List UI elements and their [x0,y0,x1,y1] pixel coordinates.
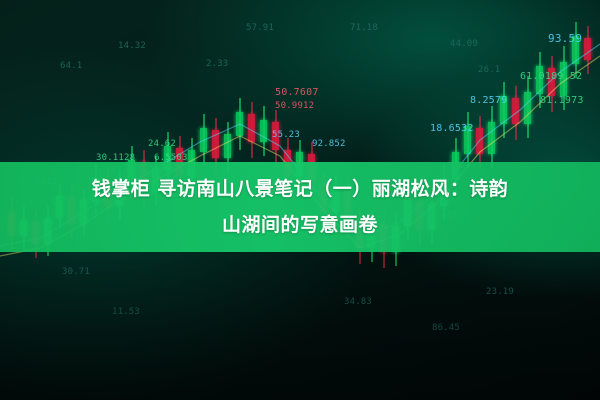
image-canvas: 93.5961.0189.528.257981.197318.653250.76… [0,0,600,400]
headline-line-2: 山湖间的写意画卷 [222,207,378,243]
headline-text: 钱掌柜 寻访南山八景笔记（一）丽湖松风：诗韵 山湖间的写意画卷 [0,162,600,252]
headline-line-1: 钱掌柜 寻访南山八景笔记（一）丽湖松风：诗韵 [92,171,509,207]
